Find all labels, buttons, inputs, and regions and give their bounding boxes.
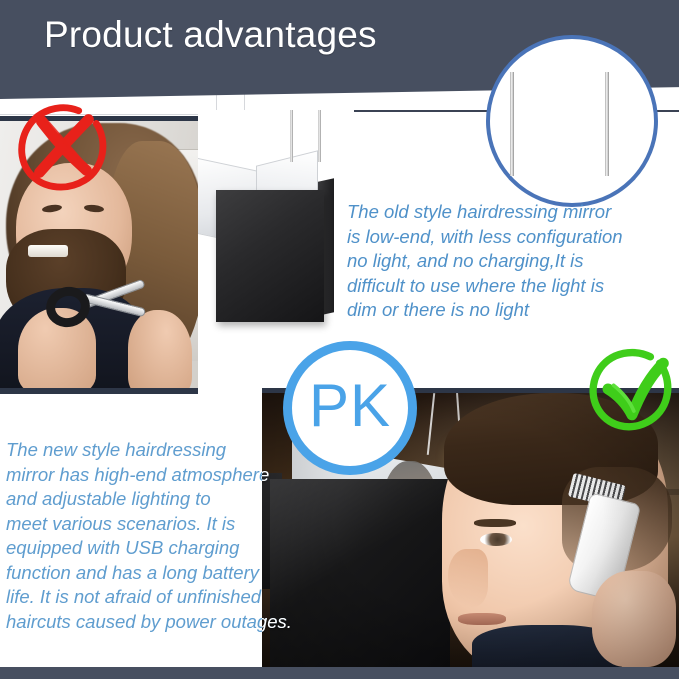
cross-mark-icon: [14, 98, 112, 196]
hanging-rod-icon: [290, 110, 293, 162]
trifold-mirror: [198, 154, 354, 344]
hanging-rod-icon: [605, 72, 609, 176]
check-mark-icon: [586, 343, 678, 435]
pk-versus-badge: PK: [283, 341, 417, 475]
pk-badge-label: PK: [309, 376, 391, 436]
product-advantages-poster: Product advantages The old style: [0, 0, 679, 679]
footer-banner: [0, 667, 679, 679]
hanging-rod-icon: [318, 110, 321, 162]
mirror-front-panel: [216, 190, 324, 322]
photo-teeth: [28, 245, 68, 257]
old-method-description: The old style hairdressing mirror is low…: [347, 200, 679, 323]
hanging-rod-icon: [510, 72, 514, 176]
page-title: Product advantages: [44, 16, 377, 53]
photo-arm: [128, 310, 192, 394]
